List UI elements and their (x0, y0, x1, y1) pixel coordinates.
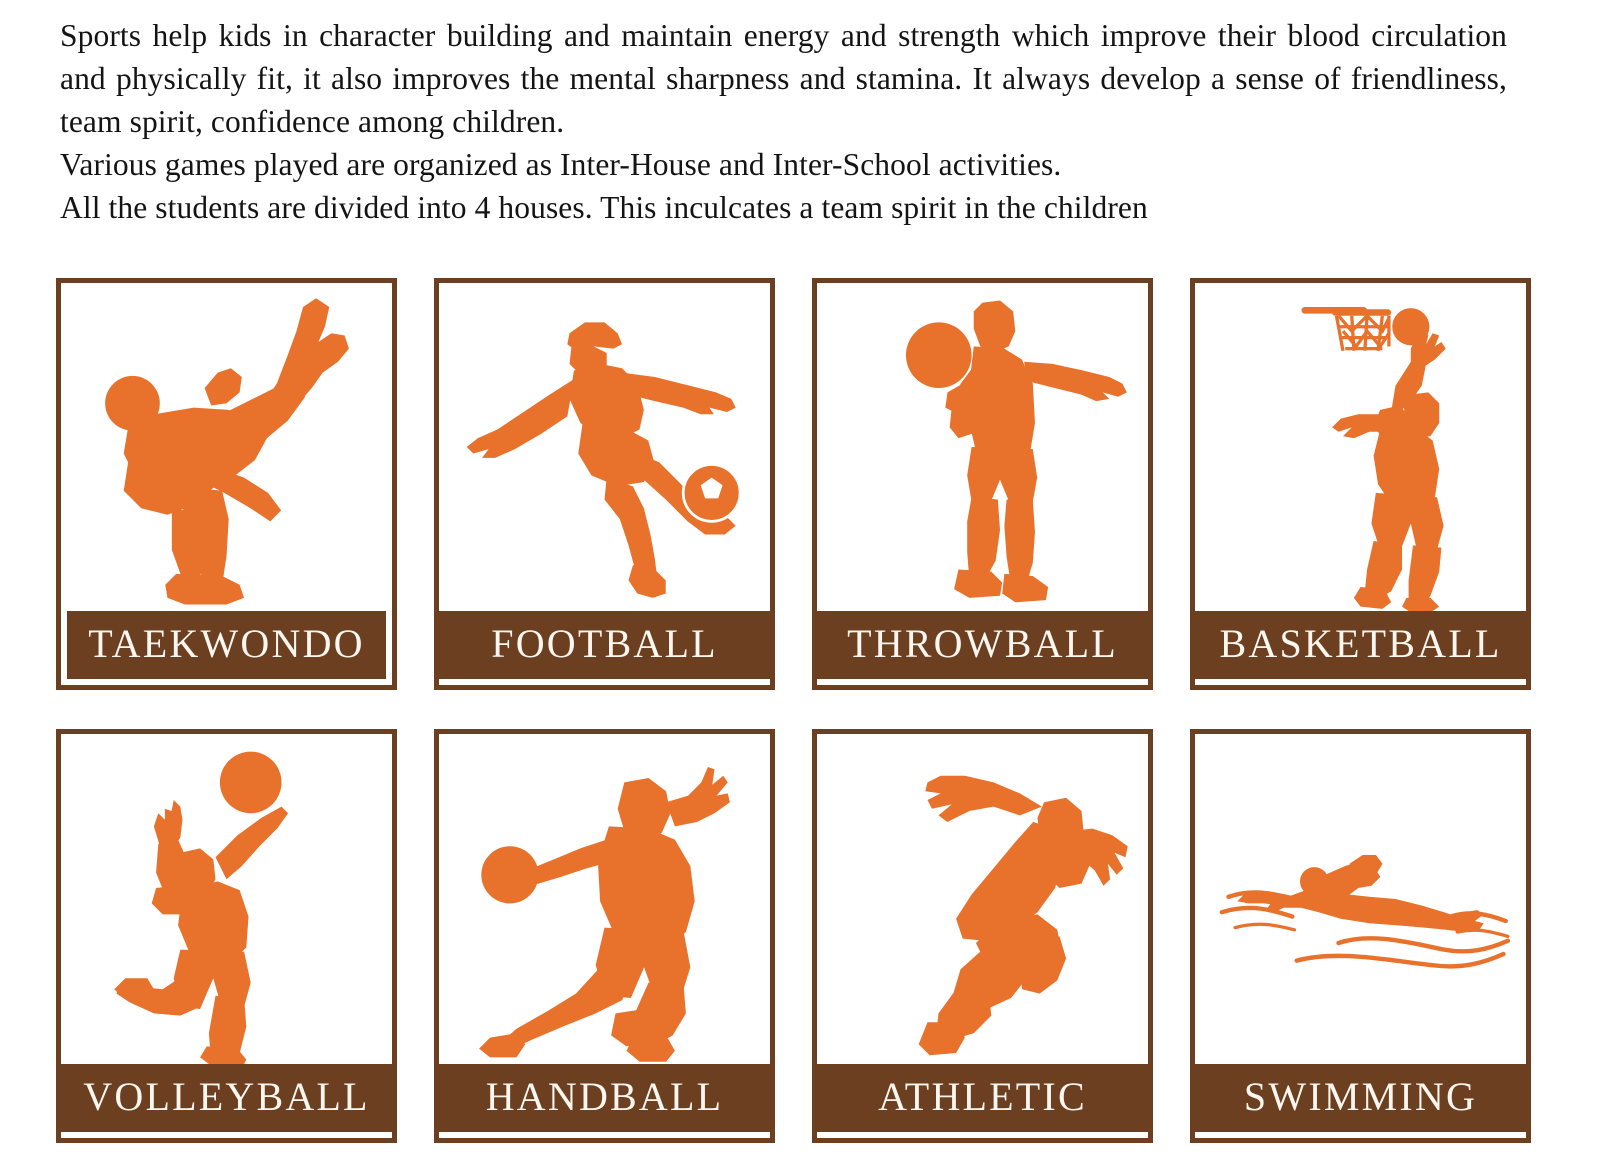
sport-label-text: VOLLEYBALL (83, 1077, 369, 1117)
intro-paragraph-3: All the students are divided into 4 hous… (60, 186, 1510, 229)
sport-card-volleyball[interactable]: VOLLEYBALL (56, 729, 397, 1143)
sport-label-throwball: THROWBALL (817, 611, 1148, 679)
sport-label-basketball: BASKETBALL (1195, 611, 1526, 679)
sport-label-taekwondo: TAEKWONDO (67, 611, 386, 679)
sport-label-football: FOOTBALL (439, 611, 770, 679)
sport-label-swimming: SWIMMING (1195, 1064, 1526, 1132)
throwball-icon (817, 283, 1148, 611)
taekwondo-icon (61, 283, 392, 611)
intro-paragraph-2: Various games played are organized as In… (60, 143, 1510, 186)
sport-card-throwball[interactable]: THROWBALL (812, 278, 1153, 690)
sport-label-text: THROWBALL (847, 624, 1118, 664)
handball-icon (439, 734, 770, 1064)
football-icon (439, 283, 770, 611)
sport-card-handball[interactable]: HANDBALL (434, 729, 775, 1143)
sport-label-volleyball: VOLLEYBALL (61, 1064, 392, 1132)
swimming-icon (1195, 734, 1526, 1064)
sport-label-handball: HANDBALL (439, 1064, 770, 1132)
sport-card-taekwondo[interactable]: TAEKWONDO (56, 278, 397, 690)
intro-paragraph-1: Sports help kids in character building a… (60, 14, 1507, 143)
intro-text-block: Sports help kids in character building a… (60, 14, 1510, 229)
sport-label-text: SWIMMING (1244, 1077, 1477, 1117)
sport-label-text: TAEKWONDO (88, 624, 365, 664)
sport-label-athletic: ATHLETIC (817, 1064, 1148, 1132)
sports-card-grid: TAEKWONDO (56, 278, 1542, 1143)
basketball-icon (1195, 283, 1526, 611)
athletic-icon (817, 734, 1148, 1064)
sport-card-basketball[interactable]: BASKETBALL (1190, 278, 1531, 690)
volleyball-icon (61, 734, 392, 1064)
sport-card-football[interactable]: FOOTBALL (434, 278, 775, 690)
sport-label-text: BASKETBALL (1220, 624, 1502, 664)
sport-label-text: HANDBALL (486, 1077, 724, 1117)
sport-card-athletic[interactable]: ATHLETIC (812, 729, 1153, 1143)
sport-card-swimming[interactable]: SWIMMING (1190, 729, 1531, 1143)
sport-label-text: ATHLETIC (878, 1077, 1087, 1117)
sport-label-text: FOOTBALL (491, 624, 718, 664)
